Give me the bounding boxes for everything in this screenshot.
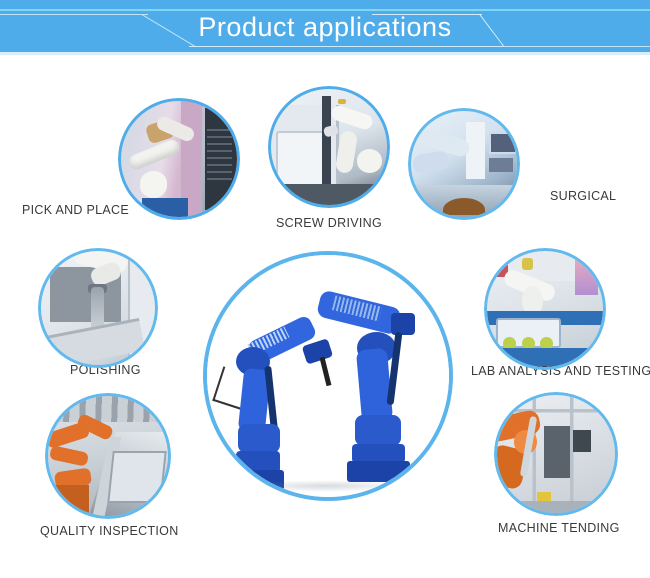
polishing-photo: [41, 251, 155, 365]
center-robot-image[interactable]: [203, 251, 453, 501]
product-applications-page: Product applications PICK AND PLACE: [0, 0, 650, 578]
surgical-image[interactable]: [408, 108, 520, 220]
quality-inspection-image[interactable]: [45, 393, 171, 519]
header-rule-right-lower: [503, 46, 650, 47]
label-polishing: POLISHING: [70, 363, 141, 378]
label-lab-analysis-and-testing: LAB ANALYSIS AND TESTING: [471, 364, 650, 379]
header-title-underline: [189, 46, 509, 47]
pick-and-place-photo: [121, 101, 237, 217]
label-screw-driving: SCREW DRIVING: [276, 216, 382, 231]
header-bottom-accent-line: [0, 52, 650, 55]
label-machine-tending: MACHINE TENDING: [498, 521, 620, 536]
pick-and-place-image[interactable]: [118, 98, 240, 220]
label-quality-inspection: QUALITY INSPECTION: [40, 524, 179, 539]
label-pick-and-place: PICK AND PLACE: [22, 203, 129, 218]
lab-analysis-photo: [487, 251, 603, 367]
screw-driving-image[interactable]: [268, 86, 390, 208]
screw-driving-photo: [271, 89, 387, 205]
machine-tending-photo: [497, 395, 615, 513]
quality-inspection-photo: [48, 396, 168, 516]
label-surgical: SURGICAL: [550, 189, 616, 204]
page-title: Product applications: [0, 11, 650, 43]
machine-tending-image[interactable]: [494, 392, 618, 516]
lab-analysis-image[interactable]: [484, 248, 606, 370]
center-robot-photo: [207, 255, 449, 497]
polishing-image[interactable]: [38, 248, 158, 368]
surgical-photo: [411, 111, 517, 217]
page-header: Product applications: [0, 0, 650, 55]
